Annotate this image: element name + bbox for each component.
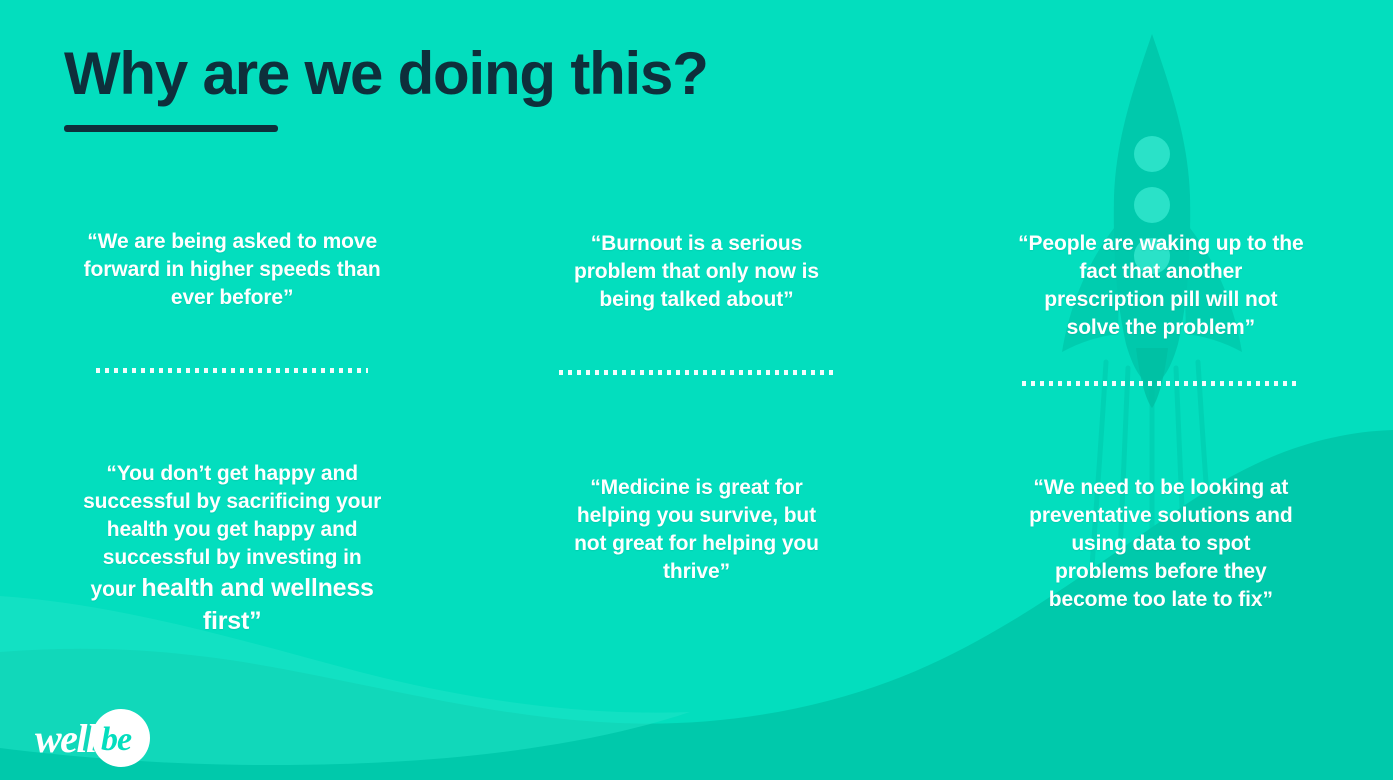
quote-preventative: “We need to be looking at preventative s… [1023, 474, 1299, 614]
dotted-divider-2 [559, 370, 833, 375]
quote-column-6: “We need to be looking at preventative s… [929, 460, 1393, 638]
quote-column-4: “You don’t get happy and successful by s… [0, 460, 464, 638]
slide-canvas: Why are we doing this? “We are being ask… [0, 0, 1393, 780]
quote-column-2: “Burnout is a serious problem that only … [464, 228, 928, 386]
header: Why are we doing this? [64, 42, 708, 132]
logo-text-be: be [101, 721, 132, 758]
page-title: Why are we doing this? [64, 42, 708, 105]
quote-speeds: “We are being asked to move forward in h… [82, 228, 382, 312]
quote-grid-row-2: “You don’t get happy and successful by s… [0, 460, 1393, 638]
title-underline-rule [64, 125, 278, 132]
dotted-divider-3 [1022, 381, 1300, 386]
logo-text-well: well [35, 716, 98, 761]
quote-column-1: “We are being asked to move forward in h… [0, 228, 464, 386]
wellbe-logo[interactable]: well be [33, 694, 159, 772]
quote-burnout: “Burnout is a serious problem that only … [556, 230, 836, 314]
quote-column-5: “Medicine is great for helping you survi… [464, 460, 928, 638]
quote-health-first-emphasis: health and wellness first” [141, 574, 373, 635]
dotted-divider-1 [96, 368, 368, 373]
quote-column-3: “People are waking up to the fact that a… [929, 228, 1393, 386]
quote-prescription: “People are waking up to the fact that a… [1017, 230, 1305, 342]
quote-grid-row-1: “We are being asked to move forward in h… [0, 228, 1393, 386]
quote-health-first: “You don’t get happy and successful by s… [82, 460, 382, 638]
quote-medicine: “Medicine is great for helping you survi… [565, 474, 827, 586]
